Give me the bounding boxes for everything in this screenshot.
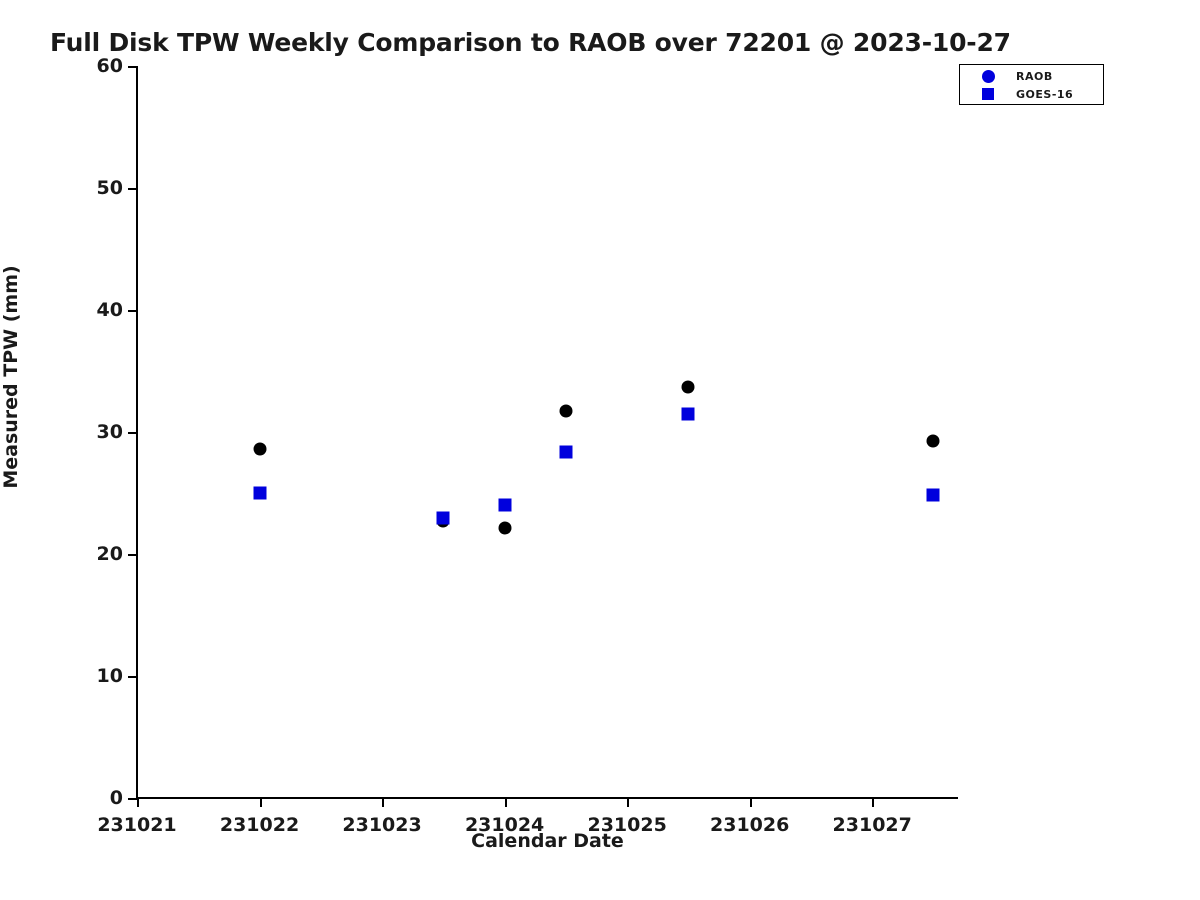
data-point-goes-16 — [682, 408, 695, 421]
legend-item-raob[interactable]: RAOB — [960, 66, 1103, 86]
y-tick-mark — [128, 432, 137, 434]
chart-legend: RAOB GOES-16 — [959, 64, 1104, 105]
legend-item-goes16[interactable]: GOES-16 — [960, 84, 1103, 104]
plot-area: 0102030405060 23102123102223102323102423… — [137, 66, 958, 798]
y-tick-label: 0 — [110, 787, 123, 809]
x-axis-label: Calendar Date — [137, 830, 958, 852]
y-tick-mark — [128, 554, 137, 556]
x-tick-mark — [750, 798, 752, 807]
data-point-raob — [927, 434, 940, 447]
data-point-goes-16 — [927, 489, 940, 502]
data-point-goes-16 — [559, 445, 572, 458]
x-tick-mark — [872, 798, 874, 807]
y-tick-label: 50 — [97, 177, 123, 199]
data-point-goes-16 — [253, 487, 266, 500]
y-tick-mark — [128, 798, 137, 800]
y-axis-label: Measured TPW (mm) — [0, 11, 22, 743]
data-point-raob — [682, 380, 695, 393]
x-tick-mark — [137, 798, 139, 807]
data-point-raob — [498, 522, 511, 535]
y-tick-mark — [128, 188, 137, 190]
y-tick-label: 60 — [97, 55, 123, 77]
data-point-goes-16 — [498, 499, 511, 512]
chart-figure: Full Disk TPW Weekly Comparison to RAOB … — [0, 0, 1200, 900]
page-title: Full Disk TPW Weekly Comparison to RAOB … — [50, 28, 1011, 57]
y-tick-mark — [128, 66, 137, 68]
x-tick-mark — [627, 798, 629, 807]
circle-icon — [960, 70, 1016, 83]
data-point-raob — [559, 405, 572, 418]
data-point-goes-16 — [437, 512, 450, 525]
data-point-raob — [253, 443, 266, 456]
y-tick-label: 40 — [97, 299, 123, 321]
x-tick-mark — [260, 798, 262, 807]
y-tick-label: 20 — [97, 543, 123, 565]
y-tick-label: 30 — [97, 421, 123, 443]
legend-label-raob: RAOB — [1016, 70, 1053, 83]
y-tick-label: 10 — [97, 665, 123, 687]
x-tick-mark — [505, 798, 507, 807]
legend-label-goes16: GOES-16 — [1016, 88, 1073, 101]
y-tick-mark — [128, 310, 137, 312]
square-icon — [960, 88, 1016, 100]
x-tick-mark — [382, 798, 384, 807]
y-tick-mark — [128, 676, 137, 678]
